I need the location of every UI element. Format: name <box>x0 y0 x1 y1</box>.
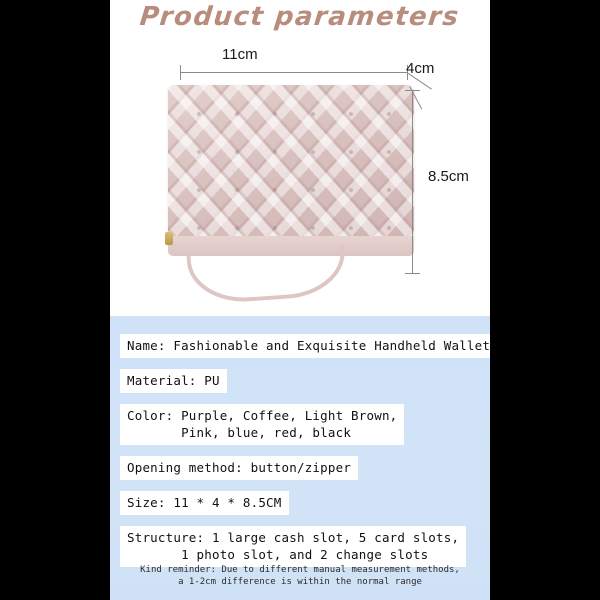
spec-row-structure: Structure: 1 large cash slot, 5 card slo… <box>120 526 480 567</box>
embroidered-motif-pattern <box>168 85 414 245</box>
spec-text-color: Color: Purple, Coffee, Light Brown, Pink… <box>120 404 404 445</box>
spec-text-opening-method: Opening method: button/zipper <box>120 456 358 480</box>
width-dimension-line <box>180 72 408 73</box>
spec-text-structure: Structure: 1 large cash slot, 5 card slo… <box>120 526 466 567</box>
page-title: Product parameters <box>139 2 462 32</box>
spec-row-opening-method: Opening method: button/zipper <box>120 456 480 480</box>
height-dimension-line <box>412 90 413 274</box>
spec-row-color: Color: Purple, Coffee, Light Brown, Pink… <box>120 404 480 445</box>
measurement-disclaimer: Kind reminder: Due to different manual m… <box>110 564 490 588</box>
wallet-body <box>168 85 414 245</box>
zipper-pull-icon <box>165 232 173 245</box>
spec-text-size: Size: 11 * 4 * 8.5CM <box>120 491 289 515</box>
width-line-left-cap <box>180 65 181 80</box>
wrist-strap-icon <box>186 245 347 306</box>
specification-list: Name: Fashionable and Exquisite Handheld… <box>120 334 480 578</box>
title-container: Product parameters <box>110 2 490 32</box>
specification-panel: Name: Fashionable and Exquisite Handheld… <box>110 316 490 600</box>
product-photo-area: 11cm 4cm 8.5cm <box>110 40 490 316</box>
depth-dimension-label: 4cm <box>406 60 434 77</box>
spec-row-name: Name: Fashionable and Exquisite Handheld… <box>120 334 480 358</box>
spec-text-material: Material: PU <box>120 369 227 393</box>
spec-row-material: Material: PU <box>120 369 480 393</box>
spec-row-size: Size: 11 * 4 * 8.5CM <box>120 491 480 515</box>
product-parameter-infographic: Product parameters 11cm 4cm 8.5cm <box>0 0 600 600</box>
width-dimension-label: 11cm <box>222 46 258 63</box>
height-line-bottom-cap <box>405 273 420 274</box>
spec-text-name: Name: Fashionable and Exquisite Handheld… <box>120 334 490 358</box>
content-column: Product parameters 11cm 4cm 8.5cm <box>110 0 490 600</box>
height-dimension-label: 8.5cm <box>428 168 469 185</box>
